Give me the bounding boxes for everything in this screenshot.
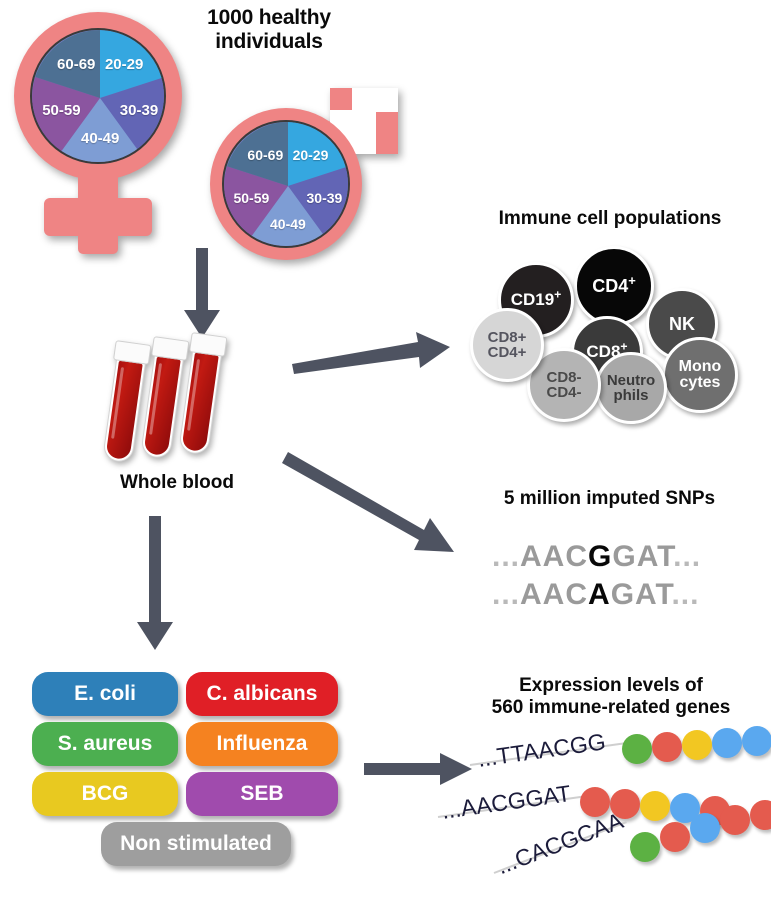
dna-bead [660,822,690,852]
age-pie-male: 20-2930-3940-4950-5960-69 [222,120,350,248]
immune-section-title: Immune cell populations [455,208,765,230]
pie-slice-label-50-59: 50-59 [233,190,269,206]
dna-bead [750,800,771,830]
female-symbol-horizontal-bar [44,198,152,236]
dna-bead [640,791,670,821]
dna-bead [720,805,750,835]
cell-label: CD19+ [511,291,562,308]
diagram-canvas: 1000 healthy individuals 20-2930-3940-49… [0,0,771,922]
dna-bead [682,730,712,760]
dna-sequence-text: ...CACGCAA [493,807,627,880]
snp-variant-allele: A [588,578,611,611]
stimulus-non-stimulated[interactable]: Non stimulated [101,822,291,866]
cell-cd4-positive: CD4+ [574,246,654,326]
cell-neutrophils: Neutrophils [595,352,667,424]
pie-slice-label-40-49: 40-49 [81,130,119,147]
arrow-blood-to-immune [292,330,452,376]
cell-label: CD8-CD4- [546,370,581,401]
pie-slice-label-50-59: 50-59 [42,102,80,119]
snp-sequence-row: ...AACGGAT... [492,540,701,574]
dna-sequence-text: ...TTAACGG [476,728,607,773]
stimulus-seb[interactable]: SEB [186,772,338,816]
cell-monocytes: Monocytes [662,337,738,413]
stimulus-s-aureus[interactable]: S. aureus [32,722,178,766]
page-title: 1000 healthy individuals [176,6,362,53]
arrow-blood-to-stimuli [132,516,180,652]
cell-cd8pos-cd4pos: CD8+CD4+ [470,308,544,382]
pie-slice-label-30-39: 30-39 [120,102,158,119]
expression-title-line2: 560 immune-related genes [455,697,767,719]
pie-slice-label-20-29: 20-29 [105,56,143,73]
dna-bead [630,832,660,862]
pie-slice-label-60-69: 60-69 [57,56,95,73]
dna-bead [742,726,771,756]
pie-slice-label-60-69: 60-69 [247,147,283,163]
age-pie-female: 20-2930-3940-4950-5960-69 [30,28,166,164]
male-symbol-arrowhead-notch2 [352,88,398,112]
cell-label: Monocytes [679,359,722,392]
arrow-cohort-to-blood [178,248,226,340]
whole-blood-label: Whole blood [82,472,272,494]
pill-label: C. albicans [207,682,318,706]
arrow-blood-to-snps [288,452,458,557]
pill-label: Influenza [216,732,307,756]
male-gender-symbol: 20-2930-3940-4950-5960-69 [208,88,423,263]
expression-title-line1: Expression levels of [455,675,767,697]
dna-bead [622,734,652,764]
expression-section-title: Expression levels of 560 immune-related … [455,675,767,720]
whole-blood-tubes [110,340,240,465]
arrow-stimuli-to-expression [364,752,474,786]
dna-bead [712,728,742,758]
stimulus-e-coli[interactable]: E. coli [32,672,178,716]
pill-label: SEB [240,782,283,806]
pill-label: BCG [82,782,129,806]
pill-label: S. aureus [58,732,153,756]
pie-slice-label-20-29: 20-29 [293,147,329,163]
stimulus-influenza[interactable]: Influenza [186,722,338,766]
stimulus-c-albicans[interactable]: C. albicans [186,672,338,716]
cell-label: NK [669,315,695,333]
female-gender-symbol: 20-2930-3940-4950-5960-69 [8,12,198,254]
pill-label: E. coli [74,682,136,706]
snp-sequence-row: ...AACAGAT... [492,578,699,612]
pie-slice-label-30-39: 30-39 [307,190,343,206]
snp-variant-allele: G [588,540,612,573]
cell-label: CD8+CD4+ [488,330,527,361]
dna-bead [690,813,720,843]
dna-bead [652,732,682,762]
stimulus-bcg[interactable]: BCG [32,772,178,816]
dna-sequence-text: ...AACGGAT [440,780,572,825]
snp-section-title: 5 million imputed SNPs [452,488,767,510]
cell-label: Neutrophils [607,373,655,404]
pie-slice-label-40-49: 40-49 [270,216,306,232]
cell-label: CD4+ [592,277,636,295]
pill-label: Non stimulated [120,832,272,856]
